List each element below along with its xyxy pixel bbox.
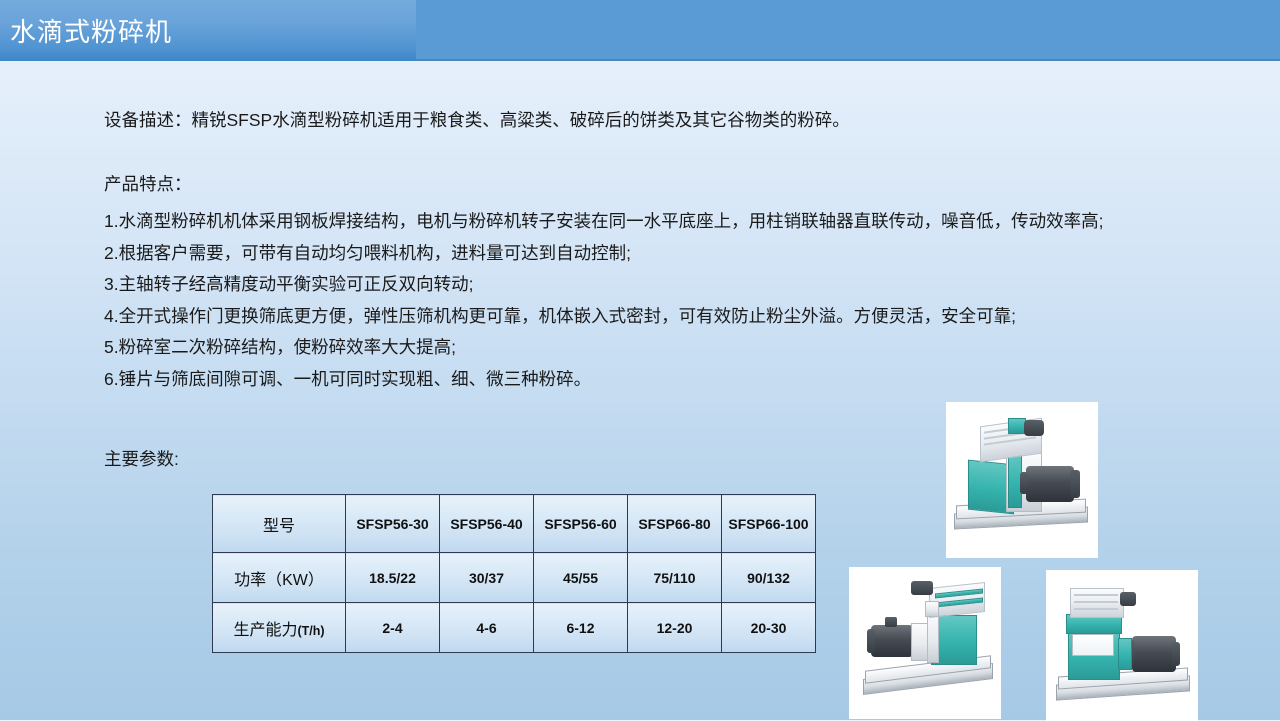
table-cell: SFSP56-60 <box>534 495 628 553</box>
table-cell: SFSP66-100 <box>722 495 816 553</box>
table-cell: 20-30 <box>722 603 816 653</box>
row-header-capacity: 生产能力(T/h) <box>213 603 346 653</box>
page-title: 水滴式粉碎机 <box>10 17 172 47</box>
table-row: 型号 SFSP56-30 SFSP56-40 SFSP56-60 SFSP66-… <box>213 495 816 553</box>
product-photo-3 <box>1046 570 1198 721</box>
product-photo-1 <box>946 402 1098 558</box>
page-content: 设备描述：精锐SFSP水滴型粉碎机适用于粮食类、高粱类、破碎后的饼类及其它谷物类… <box>0 61 1280 720</box>
specification-table: 型号 SFSP56-30 SFSP56-40 SFSP56-60 SFSP66-… <box>212 494 816 653</box>
table-row: 生产能力(T/h) 2-4 4-6 6-12 12-20 20-30 <box>213 603 816 653</box>
feature-item: 4.全开式操作门更换筛底更方便，弹性压筛机构更可靠，机体嵌入式密封，可有效防止粉… <box>104 301 1264 333</box>
product-photo-2 <box>849 567 1001 719</box>
feature-item: 5.粉碎室二次粉碎结构，使粉碎效率大大提高; <box>104 332 1264 364</box>
feature-item: 3.主轴转子经高精度动平衡实验可正反双向转动; <box>104 269 1264 301</box>
header-banner-left: 水滴式粉碎机 <box>0 0 416 61</box>
features-list: 1.水滴型粉碎机机体采用钢板焊接结构，电机与粉碎机转子安装在同一水平底座上，用柱… <box>104 206 1264 395</box>
header-banner-right <box>415 0 1280 61</box>
capacity-label: 生产能力 <box>233 622 297 639</box>
table-cell: 12-20 <box>628 603 722 653</box>
table-row: 功率（KW） 18.5/22 30/37 45/55 75/110 90/132 <box>213 553 816 603</box>
table-cell: 18.5/22 <box>346 553 440 603</box>
equipment-description: 设备描述：精锐SFSP水滴型粉碎机适用于粮食类、高粱类、破碎后的饼类及其它谷物类… <box>104 107 850 132</box>
feature-item: 2.根据客户需要，可带有自动均匀喂料机构，进料量可达到自动控制; <box>104 238 1264 270</box>
page-header: 水滴式粉碎机 <box>0 0 1280 61</box>
feature-item: 6.锤片与筛底间隙可调、一机可同时实现粗、细、微三种粉碎。 <box>104 364 1264 396</box>
table-cell: 2-4 <box>346 603 440 653</box>
table-cell: SFSP66-80 <box>628 495 722 553</box>
table-cell: 90/132 <box>722 553 816 603</box>
table-cell: 30/37 <box>440 553 534 603</box>
parameters-heading: 主要参数: <box>104 446 179 471</box>
table-cell: 75/110 <box>628 553 722 603</box>
features-heading: 产品特点： <box>104 171 192 196</box>
capacity-unit: (T/h) <box>297 624 324 638</box>
table-cell: 45/55 <box>534 553 628 603</box>
table-cell: 4-6 <box>440 603 534 653</box>
table-cell: 6-12 <box>534 603 628 653</box>
table-cell: SFSP56-30 <box>346 495 440 553</box>
table-cell: SFSP56-40 <box>440 495 534 553</box>
row-header-power: 功率（KW） <box>213 553 346 603</box>
feature-item: 1.水滴型粉碎机机体采用钢板焊接结构，电机与粉碎机转子安装在同一水平底座上，用柱… <box>104 206 1264 238</box>
row-header-model: 型号 <box>213 495 346 553</box>
